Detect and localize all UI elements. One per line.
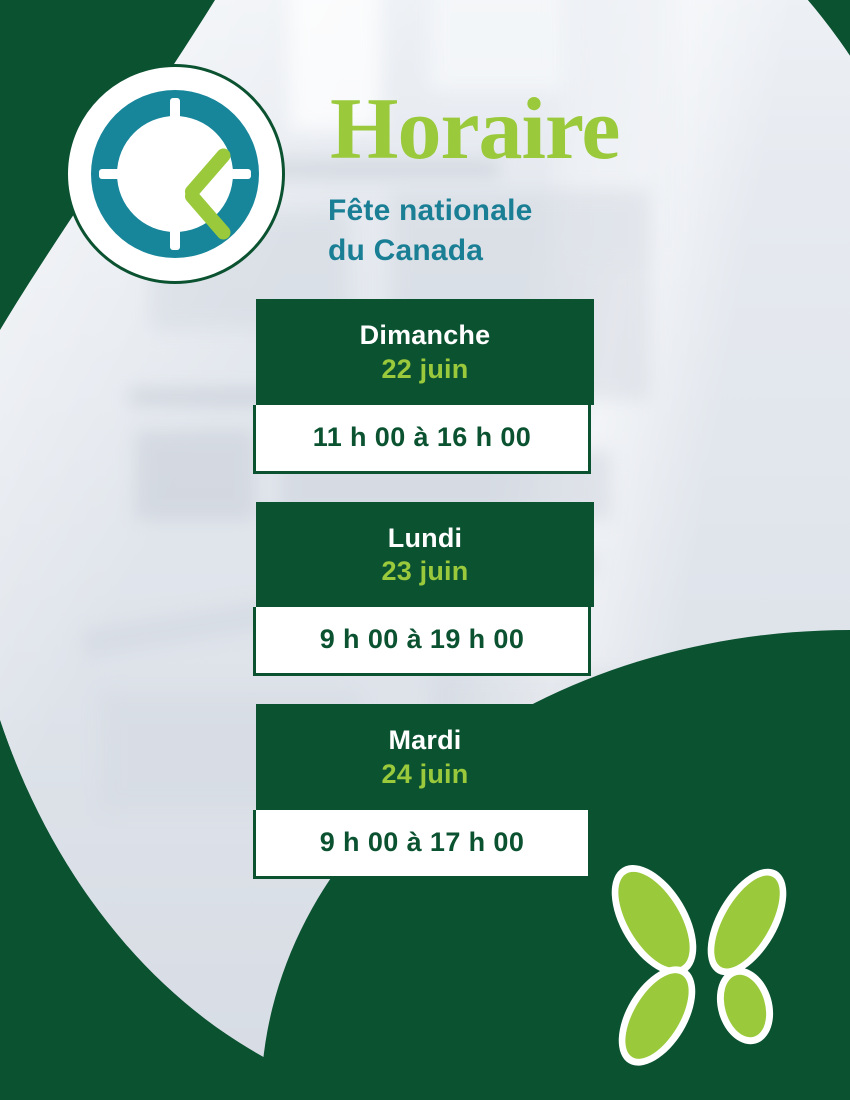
schedule-card-day: Mardi	[256, 724, 594, 758]
schedule-card-header: Lundi 23 juin	[256, 502, 594, 608]
schedule-card: Dimanche 22 juin 11 h 00 à 16 h 00	[256, 299, 594, 474]
schedule-card-date: 24 juin	[256, 758, 594, 792]
schedule-card-header: Mardi 24 juin	[256, 704, 594, 810]
page-subtitle-line-2: du Canada	[328, 231, 533, 271]
schedule-card-date: 22 juin	[256, 353, 594, 387]
page-subtitle-line-1: Fête nationale	[328, 191, 533, 231]
schedule-card-hours: 9 h 00 à 19 h 00	[256, 624, 588, 655]
clock-icon	[65, 64, 285, 284]
schedule-card-date: 23 juin	[256, 555, 594, 589]
clock-tick-6	[170, 228, 180, 250]
background-blur-shape	[135, 430, 255, 520]
background-blur-shape	[430, 0, 570, 90]
schedule-card-hours-box: 11 h 00 à 16 h 00	[253, 405, 591, 474]
page-subtitle: Fête nationale du Canada	[328, 191, 533, 271]
schedule-card: Mardi 24 juin 9 h 00 à 17 h 00	[256, 704, 594, 879]
butterfly-wing-bottom-left	[603, 953, 711, 1078]
schedule-card-header: Dimanche 22 juin	[256, 299, 594, 405]
butterfly-icon	[613, 855, 813, 1060]
schedule-card-hours-box: 9 h 00 à 19 h 00	[253, 607, 591, 676]
page-title: Horaire	[330, 86, 619, 174]
clock-tick-9	[99, 169, 121, 179]
schedule-card: Lundi 23 juin 9 h 00 à 19 h 00	[256, 502, 594, 677]
butterfly-wing-top-left	[594, 851, 713, 990]
schedule-card-hours: 11 h 00 à 16 h 00	[256, 422, 588, 453]
clock-tick-3	[229, 169, 251, 179]
schedule-poster: Horaire Fête nationale du Canada Dimanch…	[0, 0, 850, 1100]
schedule-card-day: Lundi	[256, 522, 594, 556]
butterfly-wing-bottom-right	[708, 961, 781, 1051]
clock-tick-12	[170, 98, 180, 120]
schedule-card-day: Dimanche	[256, 319, 594, 353]
schedule-list: Dimanche 22 juin 11 h 00 à 16 h 00 Lundi…	[256, 299, 594, 907]
schedule-card-hours: 9 h 00 à 17 h 00	[256, 827, 588, 858]
schedule-card-hours-box: 9 h 00 à 17 h 00	[253, 810, 591, 879]
